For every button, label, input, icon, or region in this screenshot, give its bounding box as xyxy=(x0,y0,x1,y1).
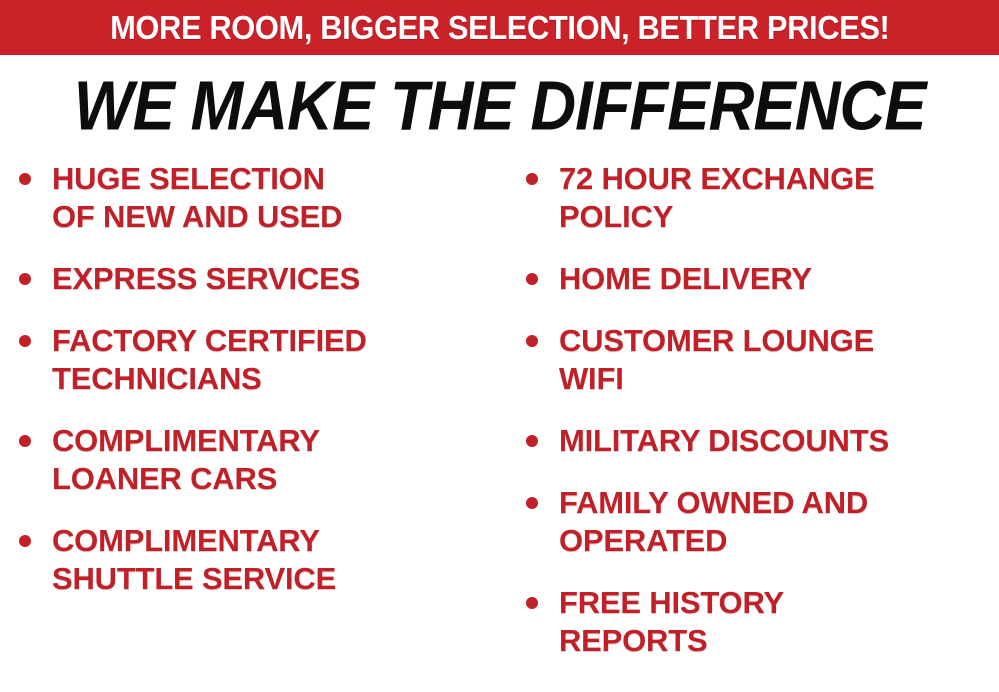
bullet-dot-icon xyxy=(526,173,538,185)
bullet-dot-icon xyxy=(526,335,538,347)
bullet-dot-icon xyxy=(526,435,538,447)
feature-item-label: 72 HOUR EXCHANGE xyxy=(559,160,999,198)
feature-item: COMPLIMENTARYLOANER CARS xyxy=(14,422,505,498)
bullet-dot-icon xyxy=(19,335,31,347)
feature-item-label: WIFI xyxy=(559,360,999,398)
feature-item: HOME DELIVERY xyxy=(521,260,999,298)
feature-item-label: OF NEW AND USED xyxy=(52,198,505,236)
feature-item-label: POLICY xyxy=(559,198,999,236)
feature-item: FAMILY OWNED ANDOPERATED xyxy=(521,484,999,560)
feature-item-label: LOANER CARS xyxy=(52,460,505,498)
feature-item-label: OPERATED xyxy=(559,522,999,560)
promo-banner-text: MORE ROOM, BIGGER SELECTION, BETTER PRIC… xyxy=(110,11,889,45)
feature-item-label: FAMILY OWNED AND xyxy=(559,484,999,522)
bullet-dot-icon xyxy=(526,497,538,509)
feature-item-label: MILITARY DISCOUNTS xyxy=(559,422,999,460)
feature-item: FREE HISTORYREPORTS xyxy=(521,584,999,660)
page-title: WE MAKE THE DIFFERENCE xyxy=(74,69,926,141)
feature-item: 72 HOUR EXCHANGEPOLICY xyxy=(521,160,999,236)
feature-item: FACTORY CERTIFIEDTECHNICIANS xyxy=(14,322,505,398)
feature-item: MILITARY DISCOUNTS xyxy=(521,422,999,460)
bullet-dot-icon xyxy=(19,435,31,447)
feature-item-label: HOME DELIVERY xyxy=(559,260,999,298)
feature-item-label: HUGE SELECTION xyxy=(52,160,505,198)
bullet-dot-icon xyxy=(526,597,538,609)
feature-columns: HUGE SELECTIONOF NEW AND USEDEXPRESS SER… xyxy=(0,160,999,692)
feature-item-label: COMPLIMENTARY xyxy=(52,422,505,460)
promo-banner: MORE ROOM, BIGGER SELECTION, BETTER PRIC… xyxy=(0,0,999,55)
bullet-dot-icon xyxy=(19,273,31,285)
feature-item: CUSTOMER LOUNGEWIFI xyxy=(521,322,999,398)
headline-container: WE MAKE THE DIFFERENCE xyxy=(0,66,999,144)
feature-column-left: HUGE SELECTIONOF NEW AND USEDEXPRESS SER… xyxy=(0,160,505,622)
feature-item: HUGE SELECTIONOF NEW AND USED xyxy=(14,160,505,236)
feature-item-label: FREE HISTORY xyxy=(559,584,999,622)
feature-item-label: TECHNICIANS xyxy=(52,360,505,398)
feature-item-label: COMPLIMENTARY xyxy=(52,522,505,560)
feature-item-label: REPORTS xyxy=(559,622,999,660)
feature-item-label: FACTORY CERTIFIED xyxy=(52,322,505,360)
feature-item: COMPLIMENTARYSHUTTLE SERVICE xyxy=(14,522,505,598)
bullet-dot-icon xyxy=(19,535,31,547)
feature-item: EXPRESS SERVICES xyxy=(14,260,505,298)
feature-item-label: SHUTTLE SERVICE xyxy=(52,560,505,598)
bullet-dot-icon xyxy=(19,173,31,185)
feature-column-right: 72 HOUR EXCHANGEPOLICYHOME DELIVERYCUSTO… xyxy=(505,160,999,684)
feature-item-label: EXPRESS SERVICES xyxy=(52,260,505,298)
feature-item-label: CUSTOMER LOUNGE xyxy=(559,322,999,360)
feature-list-left: HUGE SELECTIONOF NEW AND USEDEXPRESS SER… xyxy=(14,160,505,598)
feature-list-right: 72 HOUR EXCHANGEPOLICYHOME DELIVERYCUSTO… xyxy=(521,160,999,660)
bullet-dot-icon xyxy=(526,273,538,285)
